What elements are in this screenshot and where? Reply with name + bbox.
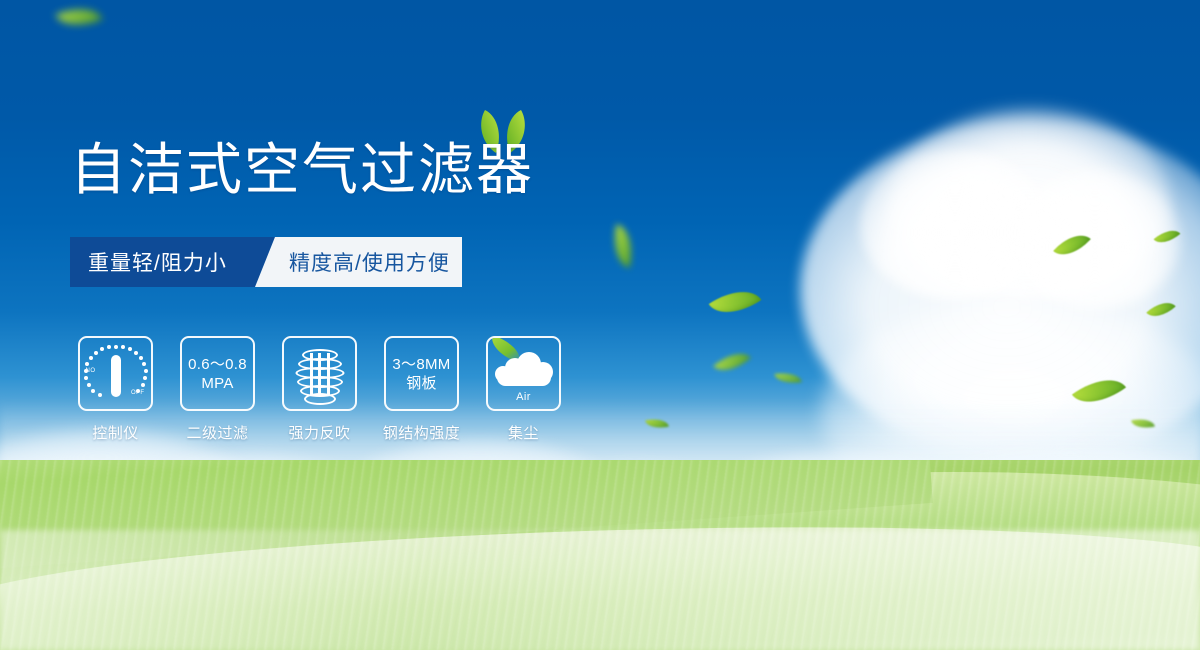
feature-item-steel-strength[interactable]: 3〜8MM 钢板 钢结构强度 <box>384 336 459 443</box>
feature-icon-box: 3〜8MM 钢板 <box>384 336 459 411</box>
grass-field <box>0 460 1200 650</box>
feature-icon-box: Air <box>486 336 561 411</box>
leaf-icon <box>713 344 751 380</box>
feature-label: 二级过滤 <box>186 422 248 443</box>
field-light-sheen <box>0 530 1200 650</box>
subtitle-right-panel: 精度高/使用方便 <box>255 237 462 287</box>
feature-label: 控制仪 <box>92 422 139 443</box>
dial-on-label: NO <box>86 368 96 374</box>
pressure-unit: MPA <box>188 374 247 393</box>
dial-off-label: OFF <box>131 390 145 396</box>
feature-label: 强力反吹 <box>288 422 350 443</box>
leaf-icon <box>1146 295 1175 324</box>
feature-list: NO OFF 控制仪 0.6〜0.8 MPA 二级过滤 <box>78 336 561 443</box>
cloud-right-puff-2 <box>1010 170 1180 310</box>
subtitle-right-text: 精度高/使用方便 <box>289 237 450 287</box>
subtitle-bar: 重量轻/阻力小 精度高/使用方便 <box>70 237 462 287</box>
feature-item-dust-collection[interactable]: Air 集尘 <box>486 336 561 443</box>
steel-thickness: 3〜8MM <box>392 355 450 374</box>
subtitle-left-text: 重量轻/阻力小 <box>88 237 227 287</box>
cloud-right-top <box>890 108 1170 298</box>
leaf-icon <box>709 278 762 325</box>
feature-label: 集尘 <box>508 422 539 443</box>
leaf-icon <box>645 416 669 431</box>
pressure-text-icon: 0.6〜0.8 MPA <box>188 355 247 393</box>
leaf-icon <box>608 224 638 268</box>
feature-icon-box <box>282 336 357 411</box>
feature-item-control-dial[interactable]: NO OFF 控制仪 <box>78 336 153 443</box>
cloud-base <box>497 369 551 386</box>
steel-material: 钢板 <box>392 374 450 393</box>
feature-item-two-stage-filter[interactable]: 0.6〜0.8 MPA 二级过滤 <box>180 336 255 443</box>
leaf-icon <box>1154 224 1181 249</box>
subtitle-left-panel: 重量轻/阻力小 <box>70 237 275 287</box>
feature-icon-box: 0.6〜0.8 MPA <box>180 336 255 411</box>
cloud-right-puff-1 <box>860 150 1050 300</box>
control-dial-icon: NO OFF <box>85 343 147 405</box>
leaf-icon <box>1131 416 1155 431</box>
steel-plate-text-icon: 3〜8MM 钢板 <box>392 355 450 393</box>
air-label: Air <box>493 391 555 403</box>
feature-label: 钢结构强度 <box>383 422 461 443</box>
feature-icon-box: NO OFF <box>78 336 153 411</box>
dial-needle <box>111 355 121 397</box>
cloud-right-main <box>800 120 1200 460</box>
leaf-icon <box>774 370 801 386</box>
leaf-icon <box>1072 366 1126 415</box>
feature-item-blowback[interactable]: 强力反吹 <box>282 336 357 443</box>
banner-stage: 自洁式空气过滤器 重量轻/阻力小 精度高/使用方便 <box>0 0 1200 650</box>
page-title: 自洁式空气过滤器 <box>70 142 534 198</box>
leaf-icon <box>1053 226 1091 265</box>
pressure-value: 0.6〜0.8 <box>188 355 247 374</box>
leaf-icon <box>55 0 102 35</box>
coil-filter-icon <box>296 349 344 399</box>
air-cloud-icon: Air <box>493 346 555 402</box>
